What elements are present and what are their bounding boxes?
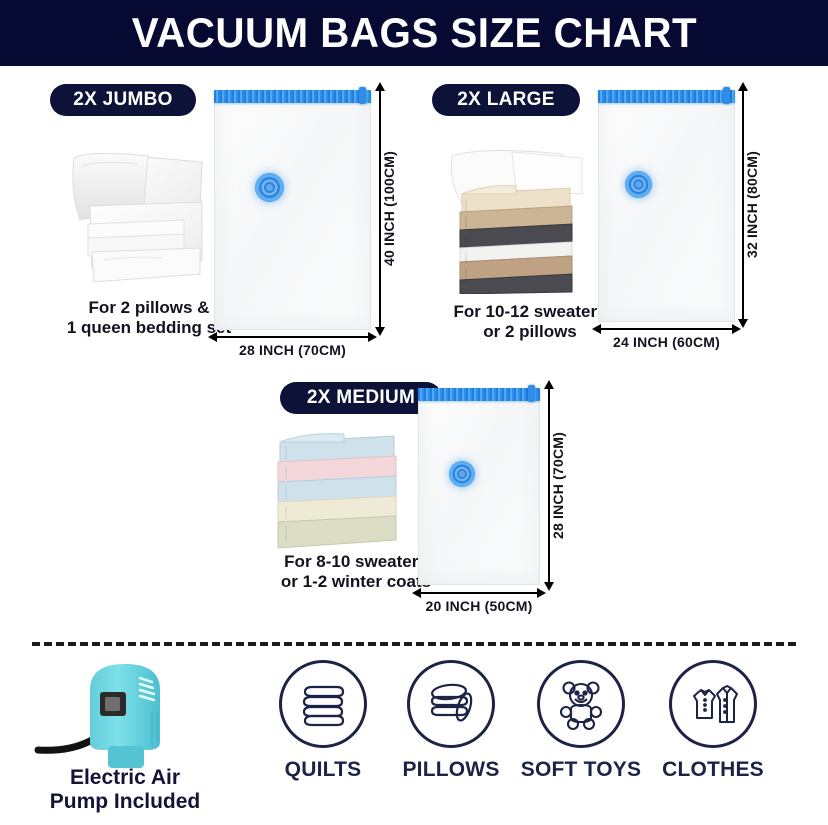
clothes-icon: [685, 676, 741, 732]
width-dimension-jumbo: 28 INCH (70CM): [216, 336, 369, 358]
size-section-medium: 2X MEDIUM For 8-10 sweaters or 1-2 winte…: [238, 380, 608, 630]
feature-circle: [669, 660, 757, 748]
height-dimension-label: 28 INCH (70CM): [550, 432, 566, 539]
feature-pillows: PILLOWS: [386, 660, 516, 782]
zipper-seal-icon: [598, 90, 735, 103]
zipper-seal-icon: [418, 388, 540, 401]
bottom-features-strip: Electric Air Pump Included QUILTS: [0, 652, 828, 825]
width-dimension-label: 24 INCH (60CM): [613, 334, 720, 350]
soft-toys-icon: [553, 676, 609, 732]
height-dimension-label: 40 INCH (100CM): [381, 151, 397, 266]
height-dimension-medium: 28 INCH (70CM): [548, 388, 569, 583]
feature-circle: [279, 660, 367, 748]
feature-label: CLOTHES: [648, 758, 778, 782]
height-dimension-jumbo: 40 INCH (100CM): [379, 90, 400, 328]
size-badge-large: 2X LARGE: [432, 84, 580, 116]
height-dimension-label: 32 INCH (80CM): [744, 151, 760, 258]
feature-circle: [537, 660, 625, 748]
air-valve-icon: [255, 173, 284, 202]
electric-air-pump-block: Electric Air Pump Included: [30, 654, 220, 824]
feature-quilts: QUILTS: [258, 660, 388, 782]
vacuum-bag-jumbo: [214, 90, 371, 330]
zipper-seal-icon: [214, 90, 371, 103]
section-divider: [32, 642, 796, 646]
size-section-large: 2X LARGE For 10-12 sweaters or 2 pillows: [420, 80, 810, 370]
width-dimension-large: 24 INCH (60CM): [600, 328, 733, 350]
width-dimension-medium: 20 INCH (50CM): [420, 592, 538, 614]
size-sections: 2X JUMBO: [0, 70, 828, 636]
size-section-jumbo: 2X JUMBO: [34, 80, 414, 370]
height-dimension-large: 32 INCH (80CM): [742, 90, 763, 320]
page-title: VACUUM BAGS SIZE CHART: [131, 9, 696, 57]
width-arrow-line: [216, 336, 369, 338]
sweater-stack-illustration: [442, 136, 597, 294]
feature-label: PILLOWS: [386, 758, 516, 782]
feature-clothes: CLOTHES: [648, 660, 778, 782]
air-pump-label: Electric Air Pump Included: [30, 766, 220, 814]
width-dimension-label: 28 INCH (70CM): [239, 342, 346, 358]
size-badge-jumbo: 2X JUMBO: [50, 84, 196, 116]
feature-circle: [407, 660, 495, 748]
air-valve-icon: [625, 171, 652, 198]
feature-label: QUILTS: [258, 758, 388, 782]
page-header: VACUUM BAGS SIZE CHART: [0, 0, 828, 66]
vacuum-bag-large: [598, 90, 735, 322]
feature-soft-toys: SOFT TOYS: [516, 660, 646, 782]
width-arrow-line: [420, 592, 538, 594]
pillows-and-quilt-illustration: [52, 132, 212, 292]
air-valve-icon: [449, 461, 475, 487]
towel-stack-illustration: [266, 428, 406, 550]
feature-label: SOFT TOYS: [516, 758, 646, 782]
vacuum-bag-medium: [418, 388, 540, 585]
air-pump-icon: [30, 654, 220, 769]
width-dimension-label: 20 INCH (50CM): [425, 598, 532, 614]
pillows-icon: [423, 676, 479, 732]
quilts-icon: [295, 676, 351, 732]
width-arrow-line: [600, 328, 733, 330]
